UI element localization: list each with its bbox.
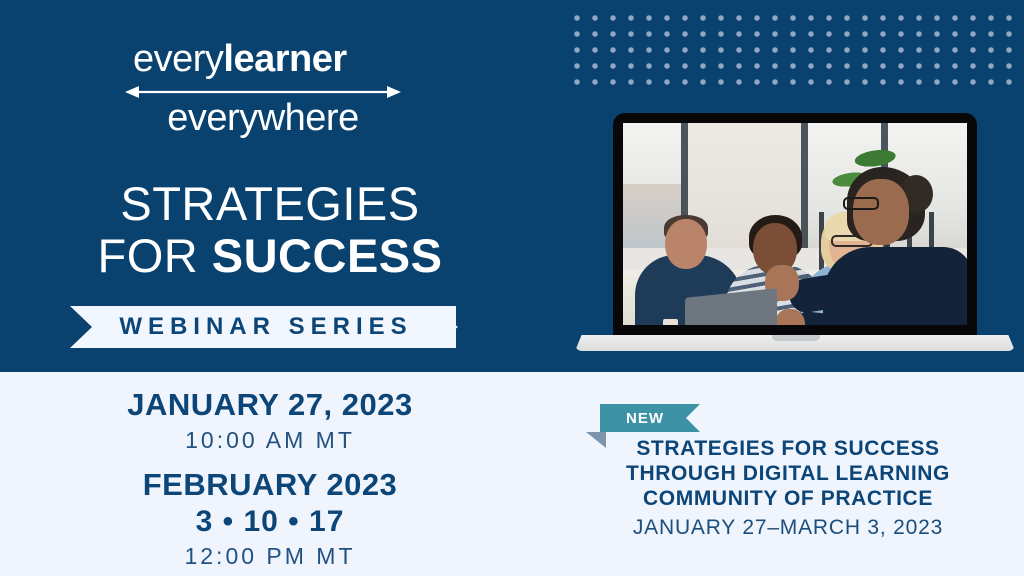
webinar-series-banner: WEBINAR SERIES bbox=[70, 306, 456, 348]
session-two-month: FEBRUARY 2023 bbox=[40, 466, 500, 504]
new-badge-label: NEW bbox=[626, 410, 674, 427]
photo-person-four-glasses bbox=[843, 197, 879, 210]
headline-for: FOR bbox=[97, 229, 211, 282]
dates-spacer bbox=[40, 456, 500, 466]
webinar-series-label: WEBINAR SERIES bbox=[113, 313, 412, 341]
logo-word-every: every bbox=[133, 38, 223, 80]
laptop-lid bbox=[613, 113, 977, 337]
community-of-practice-promo: NEW STRATEGIES FOR SUCCESS THROUGH DIGIT… bbox=[568, 404, 1008, 542]
photo-window-mullion bbox=[801, 123, 808, 248]
promo-date-range: JANUARY 27–MARCH 3, 2023 bbox=[568, 514, 1008, 542]
session-one-time: 10:00 AM MT bbox=[40, 424, 500, 456]
new-badge-wrapper: NEW bbox=[568, 404, 1008, 432]
photo-person-one-head bbox=[665, 219, 707, 269]
meeting-photo bbox=[623, 123, 967, 325]
new-badge: NEW bbox=[600, 404, 700, 432]
page-title: STRATEGIES FOR SUCCESS bbox=[40, 178, 500, 282]
webinar-promo-poster: everylearner everywhere STRATEGIES FOR S… bbox=[0, 0, 1024, 576]
promo-title-line-two: THROUGH DIGITAL LEARNING bbox=[568, 461, 1008, 486]
laptop-mockup bbox=[575, 113, 1015, 358]
headline-line-two: FOR SUCCESS bbox=[40, 230, 500, 282]
laptop-trackpad-notch bbox=[772, 335, 820, 341]
photo-person-four-head bbox=[853, 179, 909, 245]
promo-title: STRATEGIES FOR SUCCESS THROUGH DIGITAL L… bbox=[568, 436, 1008, 511]
session-two-days: 3 • 10 • 17 bbox=[40, 504, 500, 540]
logo-line-one: everylearner bbox=[123, 38, 403, 80]
photo-coffee-cup bbox=[663, 319, 678, 325]
logo-word-learner: learner bbox=[223, 38, 346, 80]
logo-line-two: everywhere bbox=[123, 96, 403, 140]
dot-pattern-decoration bbox=[568, 10, 1024, 94]
promo-title-line-one: STRATEGIES FOR SUCCESS bbox=[568, 436, 1008, 461]
session-dates-block: JANUARY 27, 2023 10:00 AM MT FEBRUARY 20… bbox=[40, 386, 500, 572]
promo-title-line-three: COMMUNITY OF PRACTICE bbox=[568, 486, 1008, 511]
session-one-date: JANUARY 27, 2023 bbox=[40, 386, 500, 424]
session-two-time: 12:00 PM MT bbox=[40, 540, 500, 572]
everylearner-everywhere-logo: everylearner everywhere bbox=[123, 38, 403, 150]
headline-line-one: STRATEGIES bbox=[40, 178, 500, 230]
headline-success: SUCCESS bbox=[212, 229, 443, 282]
laptop-screen bbox=[623, 123, 967, 325]
